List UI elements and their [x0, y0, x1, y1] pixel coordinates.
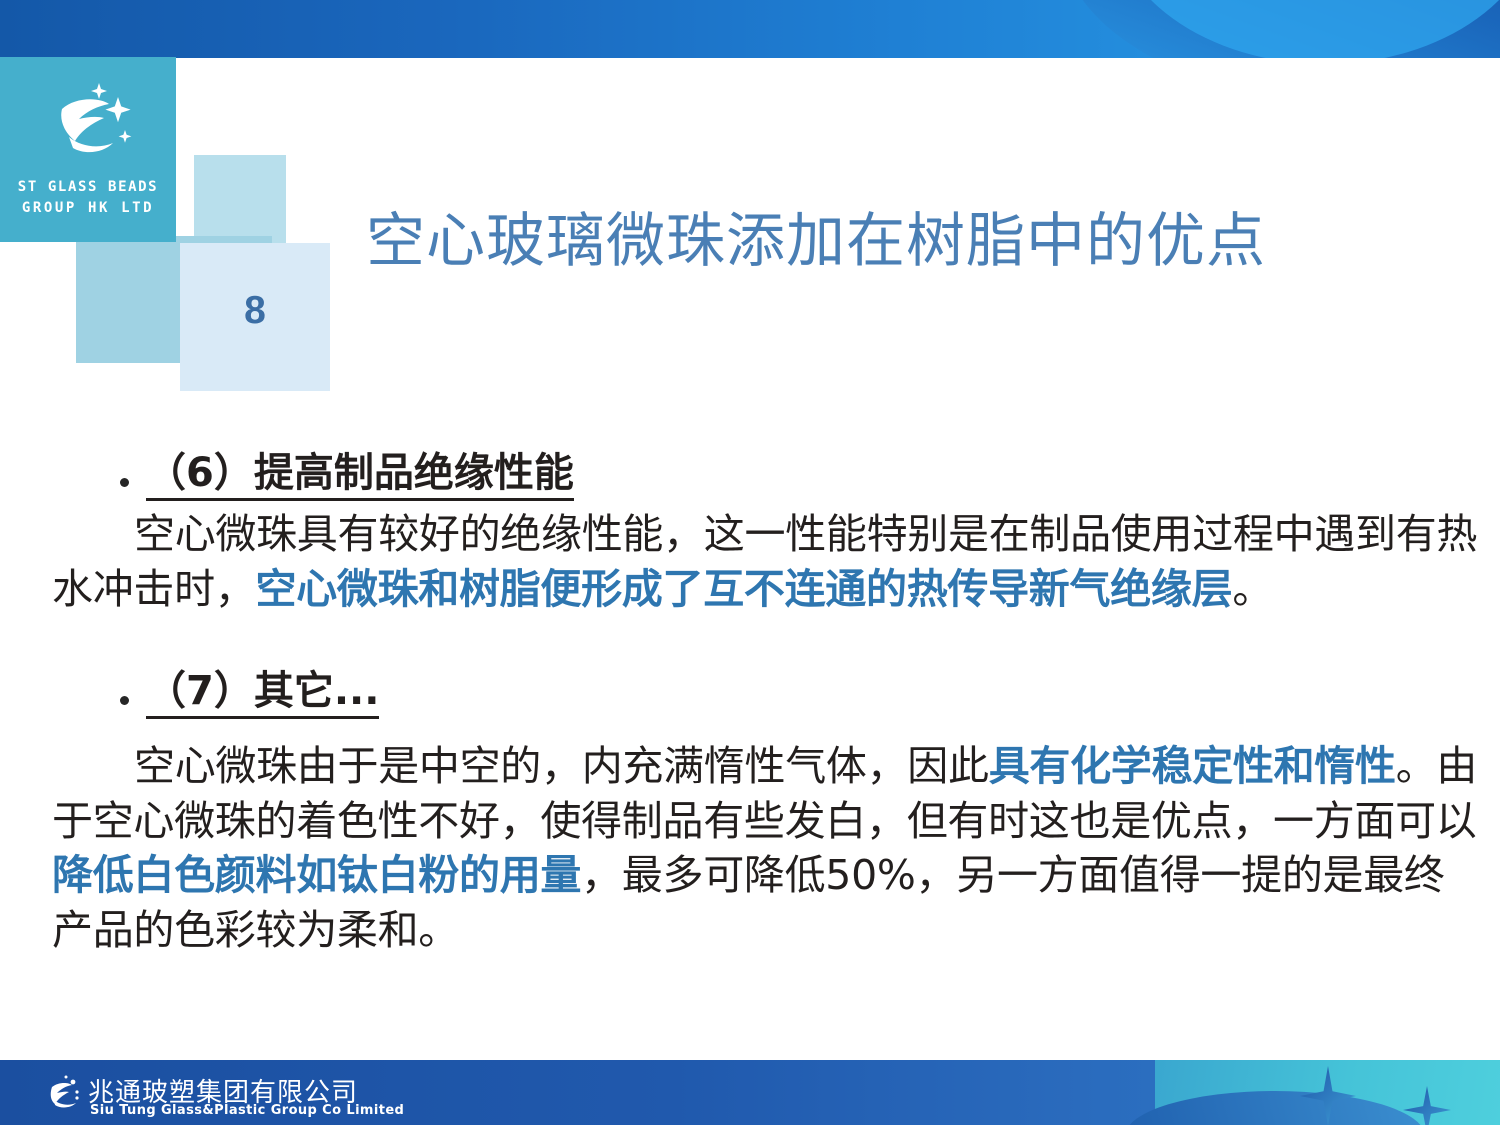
section-paragraph-6: 空心微珠具有较好的绝缘性能，这一性能特别是在制品使用过程中遇到有热水冲击时，空心… [0, 507, 1500, 616]
footer-company-name-en: Siu Tung Glass&Plastic Group Co Limited [90, 1103, 404, 1118]
section-heading-6: （6）提高制品绝缘性能 [146, 450, 574, 501]
section-gap [0, 616, 1500, 668]
paragraph-text: 。 [1232, 565, 1273, 613]
footer-crescent-sparkle-logo-icon [38, 1069, 86, 1117]
section-heading-row-6: （6）提高制品绝缘性能 [0, 450, 1500, 501]
paragraph-highlight: 空心微珠和树脂便形成了互不连通的热传导新气绝缘层 [256, 565, 1233, 613]
footer-swoosh-icon [1125, 1091, 1425, 1125]
presentation-slide: 8 ST GLASS BEADS GROUP HK LTD 空心玻璃微珠添加在树… [0, 0, 1500, 1125]
heading-paragraph-gap [0, 725, 1500, 739]
paragraph-highlight: 具有化学稳定性和惰性 [989, 742, 1396, 790]
decor-square-top [194, 155, 286, 243]
logo-text-line2: GROUP HK LTD [0, 200, 176, 216]
header-band [0, 0, 1500, 58]
bullet-dot-icon [120, 696, 129, 705]
footer-band: 兆通玻塑集团有限公司 Siu Tung Glass&Plastic Group … [0, 1060, 1500, 1125]
slide-number: 8 [180, 291, 330, 330]
paragraph-text: 空心微珠由于是中空的，内充满惰性气体，因此 [134, 742, 989, 790]
footer-teal-accent [1155, 1060, 1500, 1125]
slide-body: （6）提高制品绝缘性能 空心微珠具有较好的绝缘性能，这一性能特别是在制品使用过程… [0, 450, 1500, 957]
logo-text-line1: ST GLASS BEADS [0, 179, 176, 195]
crescent-sparkle-logo-icon [29, 73, 147, 177]
bullet-dot-icon [120, 478, 129, 487]
section-heading-row-7: （7）其它... [0, 668, 1500, 719]
slide-number-box: 8 [180, 243, 330, 391]
paragraph-highlight: 降低白色颜料如钛白粉的用量 [52, 851, 581, 899]
page-title: 空心玻璃微珠添加在树脂中的优点 [366, 193, 1266, 278]
section-paragraph-7: 空心微珠由于是中空的，内充满惰性气体，因此具有化学稳定性和惰性。由于空心微珠的着… [0, 739, 1500, 957]
content-section-7: （7）其它... 空心微珠由于是中空的，内充满惰性气体，因此具有化学稳定性和惰性… [0, 668, 1500, 957]
content-section-6: （6）提高制品绝缘性能 空心微珠具有较好的绝缘性能，这一性能特别是在制品使用过程… [0, 450, 1500, 616]
section-heading-7: （7）其它... [146, 668, 379, 719]
brand-logo-tile: ST GLASS BEADS GROUP HK LTD [0, 57, 176, 242]
